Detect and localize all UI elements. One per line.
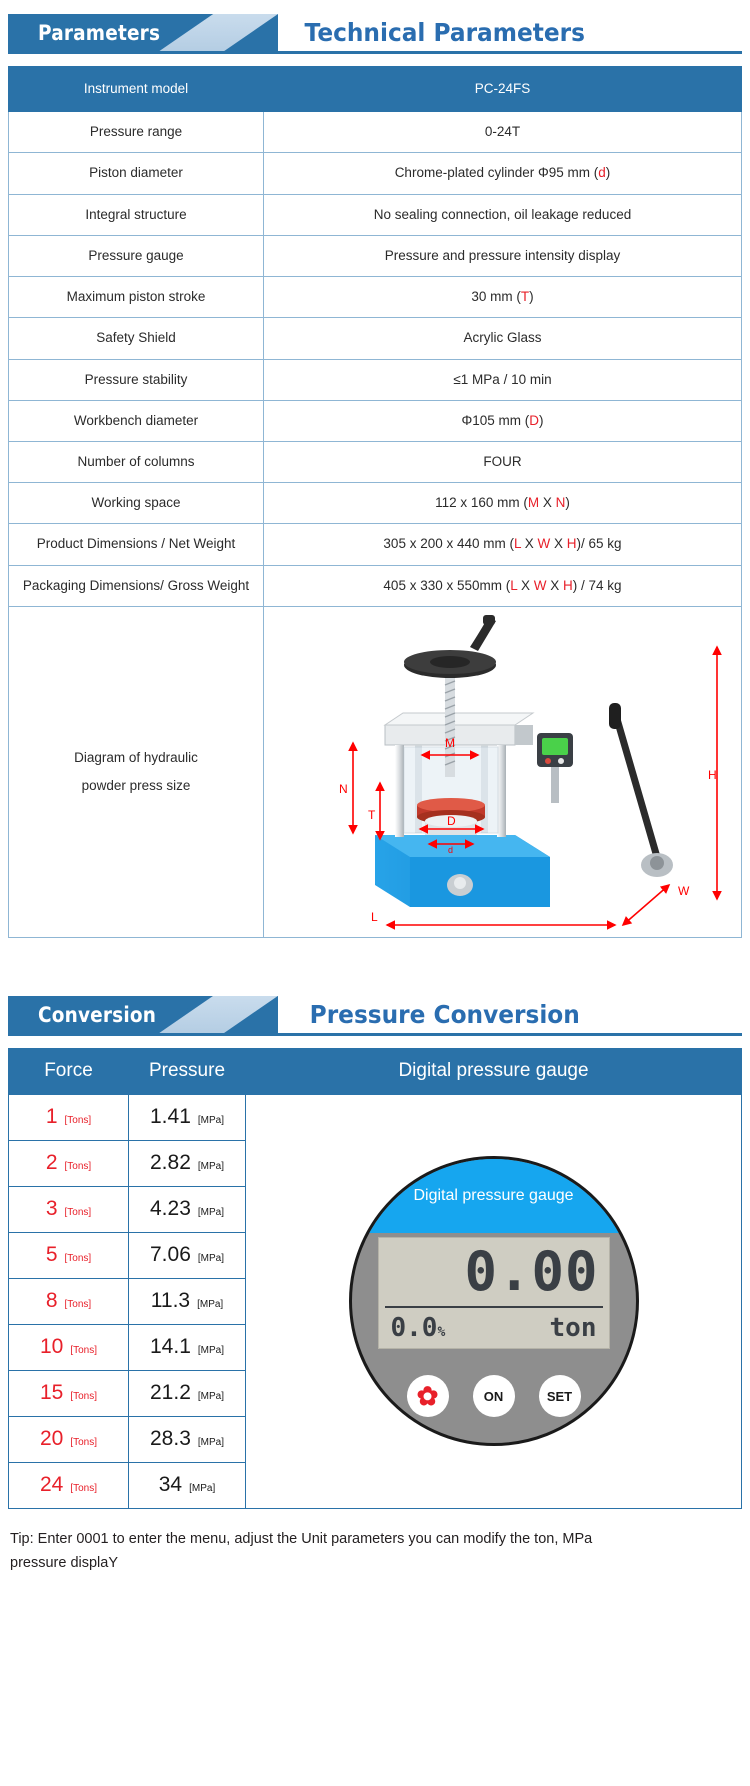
- table-row: Maximum piston stroke 30 mm (T): [9, 277, 742, 318]
- pressure-cell: 7.06[MPa]: [129, 1232, 246, 1278]
- force-value: 3: [46, 1197, 58, 1221]
- pressure-unit: [MPa]: [189, 1483, 215, 1494]
- row-value: 112 x 160 mm (M X N): [264, 483, 742, 524]
- row-value-red3: H: [563, 578, 573, 593]
- pressure-value: 2.82: [150, 1151, 191, 1175]
- row-value-red: L: [514, 536, 521, 551]
- pressure-cell: 11.3[MPa]: [129, 1278, 246, 1324]
- pressure-value: 28.3: [150, 1427, 191, 1451]
- pressure-unit: [MPa]: [198, 1437, 224, 1448]
- press-diagram-cell: H N T M D d L W: [264, 606, 742, 937]
- header-force: Force: [9, 1048, 129, 1094]
- table-row: Safety Shield Acrylic Glass: [9, 318, 742, 359]
- pressure-unit: [MPa]: [198, 1253, 224, 1264]
- row-value-tail: )/ 65 kg: [577, 536, 622, 551]
- diagram-label-line1: Diagram of hydraulic: [15, 744, 257, 772]
- row-value-tail: ): [529, 289, 534, 304]
- pressure-value: 1.41: [150, 1105, 191, 1129]
- force-value: 2: [46, 1151, 58, 1175]
- hydraulic-press-illustration: H N T M D d L W: [265, 607, 740, 937]
- set-button[interactable]: SET: [539, 1375, 581, 1417]
- row-value-tail: ) / 74 kg: [573, 578, 622, 593]
- pressure-unit: [MPa]: [197, 1299, 223, 1310]
- table-header-row: Instrument model PC-24FS: [9, 67, 742, 112]
- row-value: ≤1 MPa / 10 min: [264, 359, 742, 400]
- annotation-d: d: [448, 845, 453, 855]
- row-label: Pressure gauge: [9, 235, 264, 276]
- annotation-H: H: [708, 768, 717, 782]
- force-value: 20: [40, 1427, 63, 1451]
- row-value-tail: ): [539, 413, 544, 428]
- force-unit: [Tons]: [70, 1345, 97, 1356]
- pressure-unit: [MPa]: [198, 1391, 224, 1402]
- force-unit: [Tons]: [70, 1483, 97, 1494]
- conversion-banner: Conversion Pressure Conversion: [8, 996, 742, 1036]
- row-value: Acrylic Glass: [264, 318, 742, 359]
- force-unit: [Tons]: [65, 1161, 92, 1172]
- row-label: Pressure stability: [9, 359, 264, 400]
- row-label: Number of columns: [9, 441, 264, 482]
- table-row: Piston diameter Chrome-plated cylinder Φ…: [9, 153, 742, 194]
- gear-button[interactable]: ✿: [407, 1375, 449, 1417]
- tip-text: Tip: Enter 0001 to enter the menu, adjus…: [10, 1527, 650, 1576]
- pressure-value: 34: [159, 1473, 182, 1497]
- annotation-D: D: [447, 814, 456, 828]
- row-label: Safety Shield: [9, 318, 264, 359]
- lcd-sub-reading: 0.0: [391, 1313, 438, 1343]
- row-value-red3: H: [567, 536, 577, 551]
- row-label: Working space: [9, 483, 264, 524]
- gauge-title: Digital pressure gauge: [413, 1187, 573, 1205]
- table-row: Packaging Dimensions/ Gross Weight 405 x…: [9, 565, 742, 606]
- row-value-red2: W: [538, 536, 551, 551]
- force-cell: 1[Tons]: [9, 1094, 129, 1140]
- row-value: 305 x 200 x 440 mm (L X W X H)/ 65 kg: [264, 524, 742, 565]
- table-row: Pressure gauge Pressure and pressure int…: [9, 235, 742, 276]
- diagram-row: Diagram of hydraulic powder press size: [9, 606, 742, 937]
- press-diagram: H N T M D d L W: [264, 607, 741, 937]
- row-value-mid: X: [517, 578, 534, 593]
- pressure-cell: 4.23[MPa]: [129, 1186, 246, 1232]
- conversion-header-row: Force Pressure Digital pressure gauge: [9, 1048, 742, 1094]
- table-row: Product Dimensions / Net Weight 305 x 20…: [9, 524, 742, 565]
- row-label: Integral structure: [9, 194, 264, 235]
- row-value-text: Chrome-plated cylinder Φ95 mm (: [395, 165, 599, 180]
- pressure-cell: 21.2[MPa]: [129, 1370, 246, 1416]
- pressure-cell: 14.1[MPa]: [129, 1324, 246, 1370]
- pressure-cell: 34[MPa]: [129, 1462, 246, 1508]
- force-value: 8: [46, 1289, 58, 1313]
- force-cell: 15[Tons]: [9, 1370, 129, 1416]
- pressure-unit: [MPa]: [198, 1161, 224, 1172]
- row-value: No sealing connection, oil leakage reduc…: [264, 194, 742, 235]
- digital-gauge-cell: Digital pressure gauge 0.00 0.0% ton: [246, 1094, 742, 1508]
- pressure-conversion-table: Force Pressure Digital pressure gauge 1[…: [8, 1048, 742, 1509]
- row-value-mid: X: [539, 495, 556, 510]
- diagram-label-cell: Diagram of hydraulic powder press size: [9, 606, 264, 937]
- row-value-mid: X: [521, 536, 538, 551]
- row-label: Piston diameter: [9, 153, 264, 194]
- digital-pressure-gauge: Digital pressure gauge 0.00 0.0% ton: [349, 1156, 639, 1446]
- pressure-value: 14.1: [150, 1335, 191, 1359]
- force-cell: 10[Tons]: [9, 1324, 129, 1370]
- banner-tag-parameters: Parameters: [38, 14, 160, 52]
- row-value-red2: N: [556, 495, 566, 510]
- force-cell: 5[Tons]: [9, 1232, 129, 1278]
- header-digital-gauge: Digital pressure gauge: [246, 1048, 742, 1094]
- force-unit: [Tons]: [65, 1299, 92, 1310]
- on-button[interactable]: ON: [473, 1375, 515, 1417]
- row-value-red: M: [528, 495, 539, 510]
- table-row: Workbench diameter Φ105 mm (D): [9, 400, 742, 441]
- force-value: 5: [46, 1243, 58, 1267]
- row-value-text: 305 x 200 x 440 mm (: [383, 536, 514, 551]
- force-cell: 20[Tons]: [9, 1416, 129, 1462]
- table-row: Working space 112 x 160 mm (M X N): [9, 483, 742, 524]
- pressure-value: 4.23: [150, 1197, 191, 1221]
- force-cell: 2[Tons]: [9, 1140, 129, 1186]
- annotation-T: T: [368, 808, 376, 822]
- row-value-red2: W: [534, 578, 547, 593]
- spec-page: Parameters Technical Parameters Instrume…: [0, 14, 750, 1576]
- conversion-row: 1[Tons] 1.41[MPa] Digital pressure gauge…: [9, 1094, 742, 1140]
- lcd-main-reading: 0.00: [379, 1238, 609, 1306]
- table-row: Number of columns FOUR: [9, 441, 742, 482]
- row-label: Maximum piston stroke: [9, 277, 264, 318]
- row-value-tail: ): [606, 165, 611, 180]
- table-row: Pressure range 0-24T: [9, 112, 742, 153]
- pressure-value: 7.06: [150, 1243, 191, 1267]
- row-value: FOUR: [264, 441, 742, 482]
- banner-tag-conversion: Conversion: [38, 996, 156, 1034]
- gear-icon: ✿: [417, 1383, 439, 1409]
- parameters-banner: Parameters Technical Parameters: [8, 14, 742, 54]
- header-pressure: Pressure: [129, 1048, 246, 1094]
- row-value-text: Φ105 mm (: [461, 413, 529, 428]
- row-value-red: d: [598, 165, 606, 180]
- force-value: 10: [40, 1335, 63, 1359]
- row-label: Pressure range: [9, 112, 264, 153]
- pressure-cell: 2.82[MPa]: [129, 1140, 246, 1186]
- row-value-text: 30 mm (: [471, 289, 521, 304]
- pressure-cell: 28.3[MPa]: [129, 1416, 246, 1462]
- table-row: Integral structure No sealing connection…: [9, 194, 742, 235]
- pressure-value: 11.3: [151, 1289, 190, 1313]
- annotation-N: N: [339, 782, 348, 796]
- table-row: Pressure stability ≤1 MPa / 10 min: [9, 359, 742, 400]
- lcd-percent-symbol: %: [437, 1325, 445, 1340]
- force-value: 15: [40, 1381, 63, 1405]
- force-cell: 3[Tons]: [9, 1186, 129, 1232]
- header-value-cell: PC-24FS: [264, 67, 742, 112]
- row-value: 30 mm (T): [264, 277, 742, 318]
- row-value-mid2: X: [550, 536, 567, 551]
- technical-parameters-table: Instrument model PC-24FS Pressure range …: [8, 66, 742, 938]
- pressure-unit: [MPa]: [198, 1345, 224, 1356]
- pressure-unit: [MPa]: [198, 1115, 224, 1126]
- force-value: 1: [46, 1105, 58, 1129]
- force-unit: [Tons]: [65, 1207, 92, 1218]
- pressure-value: 21.2: [150, 1381, 191, 1405]
- annotation-L: L: [371, 910, 378, 924]
- diagram-label-line2: powder press size: [15, 772, 257, 800]
- row-label: Product Dimensions / Net Weight: [9, 524, 264, 565]
- pressure-cell: 1.41[MPa]: [129, 1094, 246, 1140]
- row-label: Packaging Dimensions/ Gross Weight: [9, 565, 264, 606]
- force-unit: [Tons]: [70, 1437, 97, 1448]
- row-value: Pressure and pressure intensity display: [264, 235, 742, 276]
- gauge-lcd: 0.00 0.0% ton: [378, 1237, 610, 1349]
- row-value-red: D: [529, 413, 539, 428]
- lcd-unit: ton: [550, 1313, 597, 1343]
- row-value: Φ105 mm (D): [264, 400, 742, 441]
- row-label: Workbench diameter: [9, 400, 264, 441]
- row-value: 405 x 330 x 550mm (L X W X H) / 74 kg: [264, 565, 742, 606]
- row-value: Chrome-plated cylinder Φ95 mm (d): [264, 153, 742, 194]
- header-label-cell: Instrument model: [9, 67, 264, 112]
- row-value-text: 405 x 330 x 550mm (: [383, 578, 510, 593]
- annotation-M: M: [445, 736, 455, 750]
- row-value: 0-24T: [264, 112, 742, 153]
- force-unit: [Tons]: [65, 1115, 92, 1126]
- gauge-title-band: Digital pressure gauge: [352, 1159, 636, 1233]
- row-value-red: T: [521, 289, 529, 304]
- row-value-text: 112 x 160 mm (: [435, 495, 528, 510]
- force-cell: 24[Tons]: [9, 1462, 129, 1508]
- force-value: 24: [40, 1473, 63, 1497]
- row-value-mid2: X: [547, 578, 564, 593]
- force-unit: [Tons]: [65, 1253, 92, 1264]
- pressure-unit: [MPa]: [198, 1207, 224, 1218]
- force-cell: 8[Tons]: [9, 1278, 129, 1324]
- annotation-W: W: [678, 884, 690, 898]
- force-unit: [Tons]: [70, 1391, 97, 1402]
- row-value-tail: ): [565, 495, 570, 510]
